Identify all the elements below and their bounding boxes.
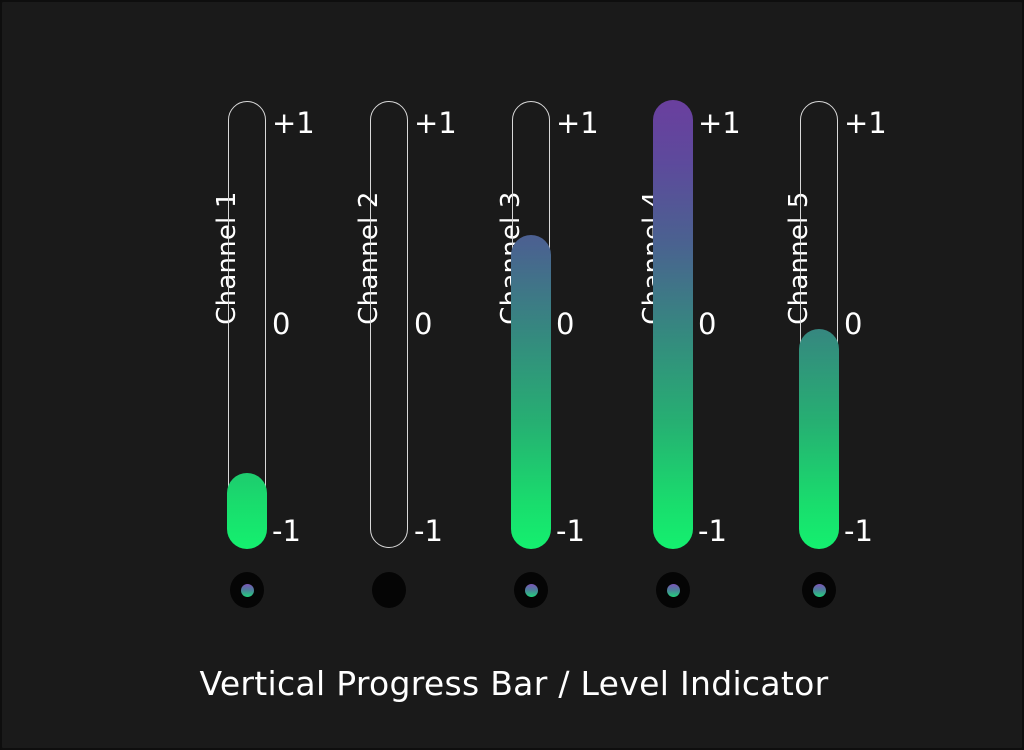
status-led-dot-5: [813, 584, 826, 597]
tick-label-min-3: -1: [556, 517, 585, 546]
channel-strip-5[interactable]: Channel 5 +1 0 -1: [754, 2, 894, 627]
progress-bar-5[interactable]: [800, 101, 838, 548]
status-led-5[interactable]: [802, 572, 836, 608]
status-led-2[interactable]: [372, 572, 406, 608]
tick-label-max-4: +1: [698, 109, 741, 138]
progress-bar-3[interactable]: [512, 101, 550, 548]
channel-strip-4[interactable]: Channel 4 +1 0 -1: [608, 2, 748, 627]
progress-fill-1: [227, 473, 267, 549]
tick-label-mid-1: 0: [272, 310, 290, 339]
status-led-3[interactable]: [514, 572, 548, 608]
channel-strip-1[interactable]: Channel 1 +1 0 -1: [182, 2, 322, 627]
status-led-1[interactable]: [230, 572, 264, 608]
tick-label-min-5: -1: [844, 517, 873, 546]
tick-label-mid-3: 0: [556, 310, 574, 339]
status-led-4[interactable]: [656, 572, 690, 608]
status-led-dot-1: [241, 584, 254, 597]
progress-bar-1[interactable]: [228, 101, 266, 548]
status-led-dot-3: [525, 584, 538, 597]
tick-label-min-1: -1: [272, 517, 301, 546]
progress-bar-4[interactable]: [654, 101, 692, 548]
channel-strip-2[interactable]: Channel 2 +1 0 -1: [324, 2, 464, 627]
channel-strip-3[interactable]: Channel 3 +1 0 -1: [466, 2, 606, 627]
progress-bar-2[interactable]: [370, 101, 408, 548]
progress-track-2: [370, 101, 408, 548]
channel-strip-row: Channel 1 +1 0 -1 Channel 2 +1 0 -1: [2, 2, 1024, 627]
level-indicator-panel: Channel 1 +1 0 -1 Channel 2 +1 0 -1: [0, 0, 1024, 750]
tick-label-mid-4: 0: [698, 310, 716, 339]
progress-fill-5: [799, 329, 839, 549]
tick-label-max-3: +1: [556, 109, 599, 138]
tick-label-min-2: -1: [414, 517, 443, 546]
tick-label-max-5: +1: [844, 109, 887, 138]
status-led-dot-4: [667, 584, 680, 597]
tick-label-min-4: -1: [698, 517, 727, 546]
progress-fill-4: [653, 100, 693, 549]
page-title: Vertical Progress Bar / Level Indicator: [2, 664, 1024, 703]
tick-label-mid-2: 0: [414, 310, 432, 339]
tick-label-max-2: +1: [414, 109, 457, 138]
tick-label-mid-5: 0: [844, 310, 862, 339]
tick-label-max-1: +1: [272, 109, 315, 138]
progress-fill-3: [511, 235, 551, 549]
